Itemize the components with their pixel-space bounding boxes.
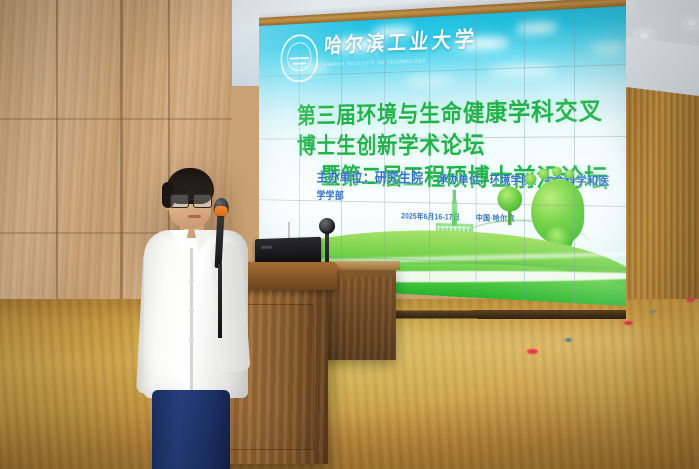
conference-photo: 哈尔滨工业大学 HARBIN INSTITUTE OF TECHNOLOGY 第… bbox=[0, 0, 699, 469]
downlight-icon bbox=[686, 20, 698, 27]
floor-marker bbox=[565, 338, 572, 342]
presenter-at-podium bbox=[138, 168, 256, 468]
organizer-label: 主办单位：研究生院 bbox=[317, 171, 424, 186]
microphone-gooseneck bbox=[218, 264, 222, 338]
floor-marker bbox=[624, 321, 633, 325]
university-logo: 哈尔滨工业大学 HARBIN INSTITUTE OF TECHNOLOGY bbox=[281, 25, 446, 88]
forum-title-line1: 第三届环境与生命健康学科交叉博士生创新学术论坛 bbox=[297, 97, 603, 159]
microphone-windscreen bbox=[214, 206, 228, 217]
eyeglasses-icon bbox=[169, 194, 213, 206]
laptop-logo-icon bbox=[261, 246, 272, 249]
hit-university-emblem-icon bbox=[281, 34, 318, 83]
university-name-en: HARBIN INSTITUTE OF TECHNOLOGY bbox=[324, 58, 426, 69]
floor-marker bbox=[650, 310, 656, 313]
microphone-head-icon bbox=[319, 218, 335, 234]
floor-marker bbox=[527, 349, 538, 354]
navy-trousers bbox=[152, 390, 230, 469]
floor-marker bbox=[686, 298, 695, 302]
